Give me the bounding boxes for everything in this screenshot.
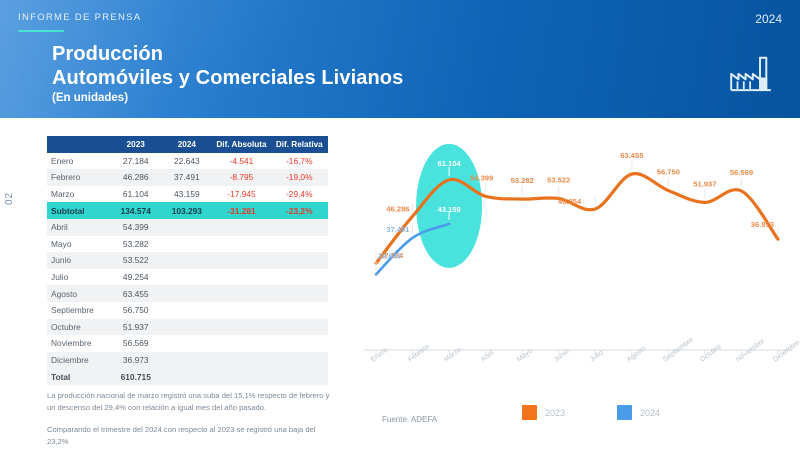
- cell-2023: 49.254: [110, 269, 161, 286]
- table-body: Enero27.18422.643-4.541-16,7%Febrero46.2…: [47, 153, 328, 385]
- data-label-2023-Marzo: 61.104: [437, 159, 461, 168]
- table-row: Mayo53.282: [47, 236, 328, 253]
- factory-icon: [724, 52, 778, 94]
- chart-source: Fuente: ADEFA: [382, 415, 437, 424]
- page-subtitle: (En unidades): [52, 92, 403, 104]
- cell-dif-abs: [212, 236, 270, 253]
- cell-2024: [161, 252, 212, 269]
- page-title-line2: Automóviles y Comerciales Livianos: [52, 67, 403, 91]
- data-label-2024-Marzo: 43.159: [437, 205, 460, 214]
- chart-x-axis-labels: EneroFebreroMarzoAbrilMayoJunioJulioAgos…: [358, 352, 798, 412]
- col-month: [47, 136, 110, 153]
- table-row: Noviembre56.569: [47, 335, 328, 352]
- note-2: Comparando el trimestre del 2024 con res…: [47, 424, 337, 449]
- cell-2024: [161, 285, 212, 302]
- cell-dif-abs: [212, 302, 270, 319]
- legend-item-2023[interactable]: 2023: [522, 405, 565, 420]
- cell-dif-abs: [212, 368, 270, 385]
- data-label-2023-Septiembre: 56.750: [657, 168, 680, 177]
- cell-month: Agosto: [47, 285, 110, 302]
- table-head: 2023 2024 Dif. Absoluta Dif. Relativa: [47, 136, 328, 153]
- cell-dif-abs: [212, 352, 270, 369]
- cell-dif-rel: -23,2%: [271, 202, 328, 219]
- cell-dif-abs: [212, 285, 270, 302]
- cell-2023: 51.937: [110, 319, 161, 336]
- table-row: Agosto63.455: [47, 285, 328, 302]
- cell-2024: 22.643: [161, 153, 212, 170]
- cell-2024: 43.159: [161, 186, 212, 203]
- cell-2023: 53.522: [110, 252, 161, 269]
- production-line-chart: 27.18446.28661.10454.39953.28253.52249.2…: [358, 140, 798, 440]
- cell-month: Noviembre: [47, 335, 110, 352]
- table-row: Octubre51.937: [47, 319, 328, 336]
- cell-month: Subtotal: [47, 202, 110, 219]
- kicker-accent-rule: [18, 30, 64, 32]
- cell-2023: 56.750: [110, 302, 161, 319]
- data-label-2023-Abril: 54.399: [470, 173, 493, 182]
- cell-2024: [161, 269, 212, 286]
- report-year: 2024: [755, 12, 782, 26]
- x-tick-julio: Julio: [589, 349, 605, 363]
- chart-legend: 2023 2024: [522, 405, 660, 420]
- table-row: Abril54.399: [47, 219, 328, 236]
- cell-dif-rel: -19,0%: [271, 169, 328, 186]
- cell-2023: 56.569: [110, 335, 161, 352]
- cell-dif-abs: -4.541: [212, 153, 270, 170]
- legend-label-2024: 2024: [640, 408, 660, 418]
- cell-2024: [161, 236, 212, 253]
- table-row: Julio49.254: [47, 269, 328, 286]
- cell-2024: [161, 319, 212, 336]
- cell-2023: 63.455: [110, 285, 161, 302]
- page-number: 02: [4, 192, 15, 205]
- cell-dif-abs: [212, 252, 270, 269]
- cell-dif-rel: [271, 319, 328, 336]
- cell-2023: 61.104: [110, 186, 161, 203]
- data-label-2023-Febrero: 46.286: [386, 204, 409, 213]
- cell-2024: [161, 302, 212, 319]
- data-label-2023-Octubre: 51.937: [693, 179, 716, 188]
- cell-2023: 53.282: [110, 236, 161, 253]
- cell-2023: 54.399: [110, 219, 161, 236]
- cell-dif-rel: -29,4%: [271, 186, 328, 203]
- cell-dif-abs: [212, 319, 270, 336]
- cell-dif-rel: [271, 219, 328, 236]
- production-table: 2023 2024 Dif. Absoluta Dif. Relativa En…: [47, 136, 328, 385]
- cell-month: Febrero: [47, 169, 110, 186]
- data-label-2024-Febrero: 37.491: [386, 225, 410, 234]
- cell-month: Marzo: [47, 186, 110, 203]
- page-title-line1: Producción: [52, 43, 403, 67]
- cell-month: Total: [47, 368, 110, 385]
- col-dif-rel: Dif. Relativa: [271, 136, 328, 153]
- legend-label-2023: 2023: [545, 408, 565, 418]
- table-row: Total610.715: [47, 368, 328, 385]
- legend-swatch-2024: [617, 405, 632, 420]
- cell-dif-rel: [271, 335, 328, 352]
- page-header: INFORME DE PRENSA 2024 Producción Automó…: [0, 0, 800, 118]
- cell-2024: [161, 219, 212, 236]
- table-row: Junio53.522: [47, 252, 328, 269]
- cell-month: Octubre: [47, 319, 110, 336]
- cell-month: Diciembre: [47, 352, 110, 369]
- legend-item-2024[interactable]: 2024: [617, 405, 660, 420]
- note-1: La producción nacional de marzo registró…: [47, 390, 337, 415]
- col-2023: 2023: [110, 136, 161, 153]
- table-header-row: 2023 2024 Dif. Absoluta Dif. Relativa: [47, 136, 328, 153]
- cell-dif-rel: [271, 302, 328, 319]
- cell-month: Julio: [47, 269, 110, 286]
- cell-2023: 46.286: [110, 169, 161, 186]
- cell-month: Enero: [47, 153, 110, 170]
- col-dif-abs: Dif. Absoluta: [212, 136, 270, 153]
- cell-2024: [161, 335, 212, 352]
- data-label-2024-Enero: 22.643: [378, 251, 401, 260]
- cell-2024: 103.293: [161, 202, 212, 219]
- table-row: Febrero46.28637.491-8.795-19,0%: [47, 169, 328, 186]
- cell-dif-abs: -17.945: [212, 186, 270, 203]
- cell-dif-abs: [212, 219, 270, 236]
- data-label-2023-Agosto: 63.455: [620, 151, 644, 160]
- cell-2024: 37.491: [161, 169, 212, 186]
- cell-month: Abril: [47, 219, 110, 236]
- cell-dif-rel: [271, 368, 328, 385]
- cell-dif-abs: -8.795: [212, 169, 270, 186]
- cell-dif-rel: [271, 252, 328, 269]
- col-2024: 2024: [161, 136, 212, 153]
- cell-2023: 36.973: [110, 352, 161, 369]
- notes-block: La producción nacional de marzo registró…: [47, 390, 337, 448]
- data-label-2023-Noviembre: 56.569: [730, 168, 753, 177]
- cell-dif-rel: [271, 269, 328, 286]
- cell-2024: [161, 352, 212, 369]
- cell-dif-abs: [212, 335, 270, 352]
- cell-dif-rel: [271, 352, 328, 369]
- cell-dif-abs: [212, 269, 270, 286]
- table-row: Diciembre36.973: [47, 352, 328, 369]
- table-row: Enero27.18422.643-4.541-16,7%: [47, 153, 328, 170]
- data-label-2023-Julio: 49.254: [558, 197, 582, 206]
- cell-dif-abs: -31.281: [212, 202, 270, 219]
- cell-month: Septiembre: [47, 302, 110, 319]
- report-kicker: INFORME DE PRENSA: [18, 12, 141, 23]
- cell-dif-rel: [271, 285, 328, 302]
- table-row: Subtotal134.574103.293-31.281-23,2%: [47, 202, 328, 219]
- cell-2023: 27.184: [110, 153, 161, 170]
- data-label-2023-Junio: 53.522: [547, 175, 570, 184]
- legend-swatch-2023: [522, 405, 537, 420]
- data-label-2023-Mayo: 53.282: [511, 176, 534, 185]
- cell-month: Junio: [47, 252, 110, 269]
- cell-2024: [161, 368, 212, 385]
- cell-2023: 610.715: [110, 368, 161, 385]
- data-label-2023-Diciembre: 36.973: [751, 220, 774, 229]
- table-row: Marzo61.10443.159-17.945-29,4%: [47, 186, 328, 203]
- cell-dif-rel: -16,7%: [271, 153, 328, 170]
- table-row: Septiembre56.750: [47, 302, 328, 319]
- x-tick-abril: Abril: [480, 350, 495, 364]
- cell-dif-rel: [271, 236, 328, 253]
- cell-month: Mayo: [47, 236, 110, 253]
- cell-2023: 134.574: [110, 202, 161, 219]
- title-block: Producción Automóviles y Comerciales Liv…: [52, 43, 403, 104]
